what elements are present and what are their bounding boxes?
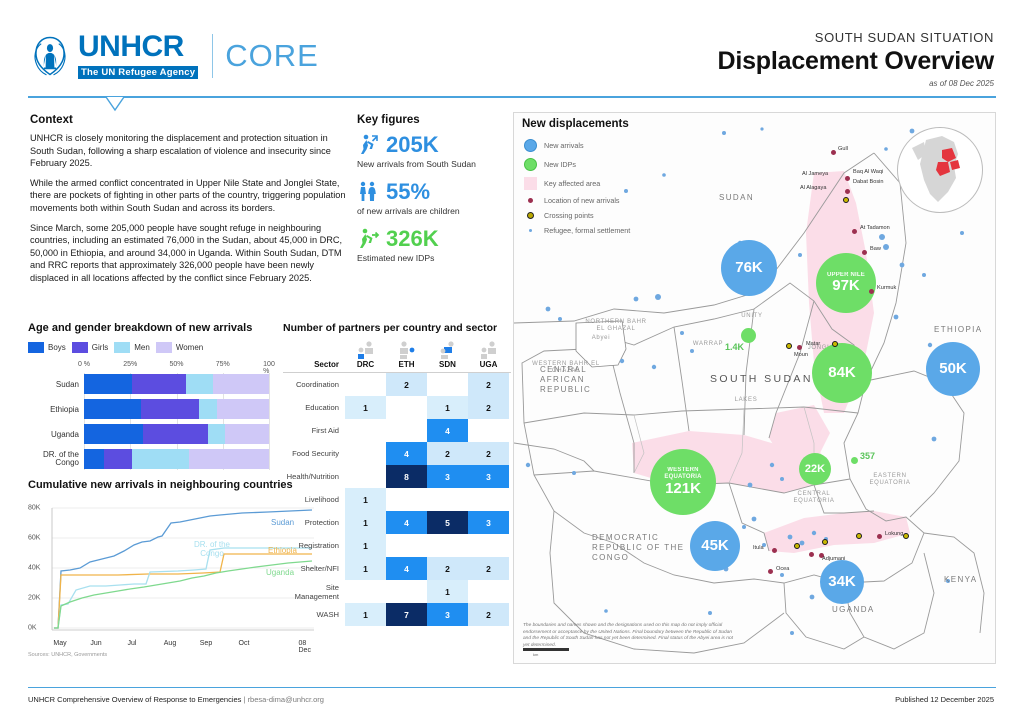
row-label: Site Management [283,580,345,603]
table-cell [345,419,386,442]
map-state-central-equatoria: CENTRAL EQUATORIA [784,491,844,505]
map-location-moun: Moun [794,352,808,358]
displacement-overview-page: UNHCR The UN Refugee Agency CORE SOUTH S… [0,0,1024,724]
page-title-block: SOUTH SUDAN SITUATION Displacement Overv… [718,30,995,88]
x-tick: May [53,640,66,647]
bar-segment-girls [141,399,198,419]
map-bubble-jonglei-idps[interactable]: 84K [812,343,872,403]
bar-segment-girls [132,374,186,394]
x-tick: 75% [216,361,230,368]
context-paragraph-2: While the armed conflict concentrated in… [30,177,350,215]
bubble-value: 121K [665,481,701,497]
footer-title: UNHCR Comprehensive Overview of Response… [28,695,241,704]
table-row[interactable]: WASH 1 7 3 2 [283,603,511,626]
bar-row-sudan: Sudan [28,373,278,395]
table-row[interactable]: Livelihood 1 [283,488,511,511]
maroon-dot-icon [831,150,836,155]
legend-item-new-arrivals: New arrivals [524,139,630,152]
legend-label: Crossing points [544,211,594,220]
table-cell [345,442,386,465]
bar-row-drc: DR. of the Congo [28,448,278,470]
key-figure-caption: of new arrivals are children [357,206,507,216]
map-panel[interactable]: New displacements New arrivals New IDPs … [513,112,996,664]
crossing-point-icon[interactable] [822,539,828,545]
crossing-point-icon[interactable] [903,533,909,539]
map-bubble-unity-value: 1.4K [725,342,744,352]
partners-icon [345,340,386,360]
row-label: Protection [283,511,345,534]
maroon-dot-icon [869,289,874,294]
map-country-uganda: UGANDA [832,605,875,614]
map-bubble-upper-nile-idps[interactable]: UPPER NILE 97K [816,253,876,313]
stacked-bar [84,399,269,419]
age-gender-title: Age and gender breakdown of new arrivals [28,322,278,334]
map-country-drc: DEMOCRATIC REPUBLIC OF THE CONGO [592,533,688,563]
bar-row-uganda: Uganda [28,423,278,445]
header-notch-icon [92,96,138,112]
table-cell: 1 [345,603,386,626]
legend-swatch [72,342,88,353]
age-gender-chart: Age and gender breakdown of new arrivals… [28,322,278,473]
x-tick: Jun [90,640,101,647]
bubble-value: 97K [832,278,860,294]
table-cell: 1 [427,580,468,603]
stacked-bar [84,449,269,469]
maroon-dot-icon [862,250,867,255]
table-cell: 4 [427,419,468,442]
partners-icon [386,340,427,360]
map-state-western-bahr-el-ghazal: WESTERN BAHR EL GHAZAL [530,361,602,375]
map-legend: New arrivals New IDPs Key affected area … [524,139,630,241]
x-tick: 50% [169,361,183,368]
legend-swatch [156,342,172,353]
crossing-point-icon [524,212,537,219]
table-cell [345,580,386,603]
crossing-point-icon[interactable] [832,341,838,347]
legend-item-refugee-settlement: Refugee, formal settlement [524,226,630,235]
context-title: Context [30,114,350,126]
table-cell: 2 [468,557,509,580]
legend-label: New IDPs [544,160,576,169]
logo-product-name: CORE [225,38,319,74]
partners-table-header: Sector DRC ETH SDN UGA [283,360,511,373]
legend-swatch [28,342,44,353]
map-location-baq-al-waqi: Baq Al Waqi [853,169,883,175]
as-of-date: as of 08 Dec 2025 [718,79,995,88]
map-location-matar: Matar [806,341,820,347]
column-header-eth: ETH [386,360,427,369]
cumulative-arrivals-plot: 80K 60K 40K 20K 0K [28,498,318,638]
maroon-dot-icon [845,176,850,181]
stacked-bar [84,374,269,394]
age-gender-bars: Sudan Ethiopia [28,373,278,470]
x-tick: 25% [123,361,137,368]
table-cell: 5 [427,511,468,534]
map-location-lokung: Lokung [885,531,903,537]
table-cell [468,488,509,511]
row-label: Livelihood [283,488,345,511]
legend-item-men: Men [114,342,150,353]
bar-segment-boys [84,399,141,419]
maroon-dot-icon [877,534,882,539]
key-figure-value: 326K [386,226,439,252]
cumulative-arrivals-chart: Cumulative new arrivals in neighbouring … [28,478,318,658]
map-state-northern-bahr-el-ghazal: NORTHERN BAHR EL GHAZAL [584,319,648,333]
map-title: New displacements [522,118,629,130]
legend-item-key-affected-area: Key affected area [524,177,630,190]
footer-published-date: Published 12 December 2025 [895,695,994,704]
table-cell: 1 [345,511,386,534]
table-cell: 1 [345,488,386,511]
key-figures-section: Key figures 205K New arrivals from South… [357,114,507,273]
map-inset-locator [897,127,983,213]
bar-segment-men [208,424,225,444]
maroon-dot-icon [852,229,857,234]
table-cell [386,580,427,603]
bar-segment-men [186,374,214,394]
row-label: Education [283,396,345,419]
bubble-value: 84K [828,365,856,381]
column-header-sector: Sector [283,360,345,369]
maroon-dot-icon [768,569,773,574]
table-row[interactable]: Education 1 1 2 [283,396,511,419]
maroon-dot-icon [797,345,802,350]
bar-row-label: Sudan [28,380,84,389]
man-woman-icon [357,180,381,204]
legend-label: Key affected area [544,179,600,188]
chart-source-note: Sources: UNHCR, Governments [28,652,318,658]
bubble-value: 45K [701,538,729,554]
pink-square-icon [524,177,537,190]
map-country-sudan: SUDAN [719,193,754,202]
map-country-south-sudan: SOUTH SUDAN [710,373,813,385]
row-label: Registration [283,534,345,557]
bar-segment-men [132,449,189,469]
age-gender-x-axis: 0 % 25% 50% 75% 100 % [84,361,269,373]
table-row[interactable]: Shelter/NFI 1 4 2 2 [283,557,511,580]
table-cell [345,465,386,488]
age-gender-legend: Boys Girls Men Women [28,342,278,353]
partners-table: Number of partners per country and secto… [283,322,511,626]
maroon-dot-icon [772,548,777,553]
table-cell [468,534,509,557]
table-cell: 1 [345,396,386,419]
series-label-drc: DR. of the Congo [183,540,241,558]
map-location-baw: Baw [870,246,881,252]
table-cell [468,580,509,603]
key-figure-new-idps: 326K Estimated new IDPs [357,226,507,263]
scalebar-label: km [533,652,569,657]
table-cell [427,488,468,511]
partners-icon [427,340,468,360]
table-cell: 2 [427,557,468,580]
table-cell [427,534,468,557]
small-blue-dot-icon [524,229,537,232]
table-row[interactable]: Health/Nutrition 8 3 3 [283,465,511,488]
legend-label: Women [176,343,203,352]
table-cell: 2 [468,373,509,396]
logo-tagline: The UN Refugee Agency [78,66,198,79]
x-tick: Aug [164,640,176,647]
bar-segment-boys [84,374,132,394]
x-tick: 08 Dec [299,640,312,654]
unhcr-emblem-icon [28,33,72,79]
legend-item-women: Women [156,342,203,353]
map-location-ocea: Ocea [776,566,789,572]
situation-label: SOUTH SUDAN SITUATION [718,30,995,45]
crossing-point-icon[interactable] [794,543,800,549]
table-cell: 3 [468,511,509,534]
table-row[interactable]: Protection 1 4 5 3 [283,511,511,534]
bubble-value: 76K [735,260,763,276]
table-cell: 2 [427,442,468,465]
table-cell [386,488,427,511]
footer-email[interactable]: rbesa-dima@unhcr.org [248,695,324,704]
bubble-value: 22K [805,463,825,475]
key-figure-value: 205K [386,132,439,158]
legend-label: New arrivals [544,141,584,150]
key-figure-new-arrivals: 205K New arrivals from South Sudan [357,132,507,169]
table-cell [468,419,509,442]
table-cell [386,534,427,557]
table-cell: 8 [386,465,427,488]
row-label: WASH [283,603,345,626]
table-cell: 2 [468,396,509,419]
header-divider [28,96,996,98]
page-title: Displacement Overview [718,47,995,76]
table-cell [427,373,468,396]
table-cell: 1 [345,534,386,557]
column-header-sdn: SDN [427,360,468,369]
map-scalebar: km [523,648,569,657]
row-label: Coordination [283,373,345,396]
bar-segment-women [225,424,269,444]
map-location-itula: Itula [753,545,764,551]
legend-label: Location of new arrivals [544,196,620,205]
map-bubble-eastern-equatoria-value: 357 [860,451,875,461]
bar-row-ethiopia: Ethiopia [28,398,278,420]
table-row[interactable]: Food Security 4 2 2 [283,442,511,465]
map-state-abyei: Abyei [576,335,626,342]
table-cell: 2 [468,603,509,626]
map-bubble-eastern-equatoria-dot[interactable] [851,457,858,464]
logo-wordmark: UNHCR [78,32,198,62]
legend-label: Boys [48,343,66,352]
legend-label: Refugee, formal settlement [544,226,630,235]
bar-segment-girls [143,424,208,444]
row-label: First Aid [283,419,345,442]
legend-item-crossing-points: Crossing points [524,211,630,220]
footer-left: UNHCR Comprehensive Overview of Response… [28,695,324,704]
x-tick: Oct [239,640,250,647]
row-label: Food Security [283,442,345,465]
table-cell: 4 [386,511,427,534]
map-location-al-jameya: Al Jameya [802,171,828,177]
x-tick: Jul [128,640,137,647]
context-section: Context UNHCR is closely monitoring the … [30,114,350,292]
table-cell: 3 [468,465,509,488]
context-paragraph-3: Since March, some 205,000 people have so… [30,222,350,285]
africa-locator-icon [898,128,983,213]
column-header-drc: DRC [345,360,386,369]
legend-swatch [114,342,130,353]
map-state-lakes: LAKES [726,397,766,404]
bar-segment-women [213,374,269,394]
key-figure-caption: New arrivals from South Sudan [357,159,507,169]
person-running-arrow-icon [357,227,381,251]
map-disclaimer: The boundaries and names shown and the d… [523,623,738,649]
bar-segment-boys [84,449,104,469]
bar-segment-women [189,449,269,469]
table-cell: 2 [468,442,509,465]
map-bubble-unity-idps[interactable] [741,328,756,343]
table-cell [345,373,386,396]
map-location-al-alagaya: Al Alagaya [800,185,826,191]
map-location-at-tadamon: At Tadamon [860,225,890,231]
bubble-value: 34K [828,574,856,590]
context-paragraph-1: UNHCR is closely monitoring the displace… [30,132,350,170]
bar-segment-women [217,399,269,419]
legend-label: Girls [92,343,108,352]
table-cell [386,396,427,419]
partners-table-body: Coordination 2 2 Education 1 1 2 First A… [283,373,511,626]
map-location-kurmuk: Kurmuk [877,285,896,291]
legend-label: Men [134,343,150,352]
legend-item-location-new-arrivals: Location of new arrivals [524,196,630,205]
table-cell: 7 [386,603,427,626]
bubble-value: 50K [939,361,967,377]
x-tick: Sep [200,640,212,647]
partners-table-title: Number of partners per country and secto… [283,322,511,334]
table-cell: 1 [427,396,468,419]
table-cell: 1 [345,557,386,580]
table-cell: 3 [427,603,468,626]
map-country-ethiopia: ETHIOPIA [934,325,983,334]
stacked-bar [84,424,269,444]
logo-divider [212,34,213,78]
table-row[interactable]: Registration 1 [283,534,511,557]
key-figure-caption: Estimated new IDPs [357,253,507,263]
table-cell [386,419,427,442]
bubble-label: UPPER NILE [827,272,865,279]
map-bubble-western-equatoria-idps[interactable]: WESTERN EQUATORIA 121K [650,449,716,515]
map-bubble-sudan-arrivals[interactable]: 76K [721,240,777,296]
column-header-uga: UGA [468,360,509,369]
cumulative-arrivals-title: Cumulative new arrivals in neighbouring … [28,478,318,492]
bar-row-label: Uganda [28,430,84,439]
key-figure-children-share: 55% of new arrivals are children [357,179,507,216]
row-label: Health/Nutrition [283,465,345,488]
map-location-gull: Gull [838,146,848,152]
map-bubble-uganda-arrivals[interactable]: 34K [820,560,864,604]
legend-item-girls: Girls [72,342,108,353]
row-label: Shelter/NFI [283,557,345,580]
table-cell: 3 [427,465,468,488]
person-running-arrow-icon [357,133,381,157]
maroon-dot-icon [845,189,850,194]
unhcr-logo: UNHCR The UN Refugee Agency CORE [28,32,319,80]
map-bubble-ethiopia-arrivals[interactable]: 50K [926,342,980,396]
map-location-dabat-bosin: Dabat Bosin [853,179,883,185]
page-header: UNHCR The UN Refugee Agency CORE SOUTH S… [0,0,1024,92]
bar-segment-boys [84,424,143,444]
bar-row-label: DR. of the Congo [28,451,84,468]
blue-circle-icon [524,139,537,152]
table-row[interactable]: Site Management 1 [283,580,511,603]
age-gender-plot: Sudan Ethiopia [28,373,278,470]
x-tick: 0 % [78,361,90,368]
table-cell: 4 [386,442,427,465]
bar-segment-men [199,399,218,419]
map-state-unity: UNITY [732,313,772,320]
map-bubble-central-equatoria-idps[interactable]: 22K [799,453,831,485]
legend-item-new-idps: New IDPs [524,158,630,171]
footer-divider [28,687,996,688]
bubble-label: WESTERN EQUATORIA [650,467,716,480]
map-bubble-drc-arrivals[interactable]: 45K [690,521,740,571]
crossing-point-icon[interactable] [843,197,849,203]
green-circle-icon [524,158,537,171]
legend-item-boys: Boys [28,342,66,353]
bar-segment-girls [104,449,132,469]
crossing-point-icon[interactable] [856,533,862,539]
table-row[interactable]: First Aid 4 [283,419,511,442]
partners-icon [468,340,509,360]
crossing-point-icon[interactable] [786,343,792,349]
partners-table-icon-row [345,340,511,360]
map-state-eastern-equatoria: EASTERN EQUATORIA [862,473,918,487]
bar-row-label: Ethiopia [28,405,84,414]
maroon-dot-icon [524,198,537,203]
table-cell: 4 [386,557,427,580]
key-figure-value: 55% [386,179,430,205]
map-country-kenya: KENYA [944,575,978,584]
table-cell: 2 [386,373,427,396]
map-location-adjumani: Adjumani [822,556,845,562]
key-figures-title: Key figures [357,114,507,126]
maroon-dot-icon [809,552,814,557]
table-row[interactable]: Coordination 2 2 [283,373,511,396]
